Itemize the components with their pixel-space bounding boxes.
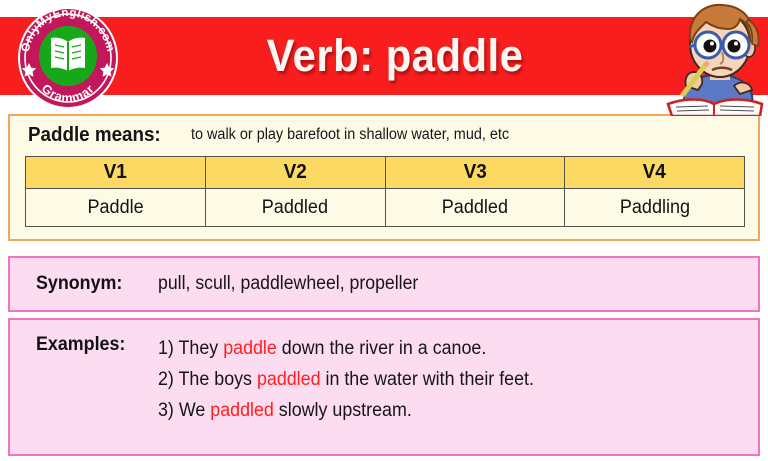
mascot-illustration	[662, 0, 768, 116]
synonym-box: Synonym: pull, scull, paddlewheel, prope…	[8, 256, 760, 312]
example-item-1: 1) They paddle down the river in a canoe…	[158, 334, 534, 365]
v1-form: Paddle	[87, 197, 143, 219]
example-3-suffix: slowly upstream.	[274, 400, 412, 421]
example-1-suffix: down the river in a canoe.	[277, 338, 486, 359]
definition-text: to walk or play barefoot in shallow wate…	[191, 126, 509, 144]
example-3-highlight: paddled	[210, 400, 274, 421]
definition-label: Paddle means:	[28, 124, 161, 147]
table-row: Paddle Paddled Paddled Paddling	[26, 189, 745, 227]
examples-list: 1) They paddle down the river in a canoe…	[158, 334, 558, 454]
column-header-v4: V4	[565, 157, 745, 189]
example-item-2: 2) The boys paddled in the water with th…	[158, 365, 534, 396]
column-header-v2: V2	[205, 157, 385, 189]
v3-label: V3	[463, 161, 486, 184]
cell-v1: Paddle	[26, 189, 206, 227]
synonym-text: pull, scull, paddlewheel, propeller	[158, 273, 418, 295]
v4-form: Paddling	[619, 197, 689, 219]
column-header-v1: V1	[26, 157, 206, 189]
table-header-row: V1 V2 V3 V4	[26, 157, 745, 189]
example-3-prefix: 3) We	[158, 400, 210, 421]
example-2-suffix: in the water with their feet.	[321, 369, 534, 390]
synonym-label: Synonym:	[36, 273, 134, 295]
example-2-prefix: 2) The boys	[158, 369, 257, 390]
v1-label: V1	[104, 161, 127, 184]
example-1-prefix: 1) They	[158, 338, 223, 359]
example-1-highlight: paddle	[223, 338, 277, 359]
cell-v3: Paddled	[385, 189, 565, 227]
cell-v2: Paddled	[205, 189, 385, 227]
page-title: Verb: paddle	[167, 17, 623, 95]
v2-form: Paddled	[262, 197, 328, 219]
v3-form: Paddled	[442, 197, 508, 219]
v2-label: V2	[284, 161, 307, 184]
verb-forms-panel: Paddle means: to walk or play barefoot i…	[8, 114, 760, 241]
examples-label: Examples:	[36, 334, 134, 454]
examples-box: Examples: 1) They paddle down the river …	[8, 318, 760, 456]
example-item-3: 3) We paddled slowly upstream.	[158, 396, 534, 427]
verb-forms-table: V1 V2 V3 V4 Paddle Paddled Paddled Paddl…	[25, 156, 745, 227]
infographic-page: Verb: paddle OnlyMyEnglish.com	[0, 0, 768, 461]
v4-label: V4	[643, 161, 666, 184]
site-logo: OnlyMyEnglish.com Grammar	[14, 6, 122, 110]
cell-v4: Paddling	[565, 189, 745, 227]
definition-row: Paddle means: to walk or play barefoot i…	[10, 116, 758, 154]
open-book-icon	[51, 38, 85, 71]
example-2-highlight: paddled	[257, 369, 321, 390]
column-header-v3: V3	[385, 157, 565, 189]
